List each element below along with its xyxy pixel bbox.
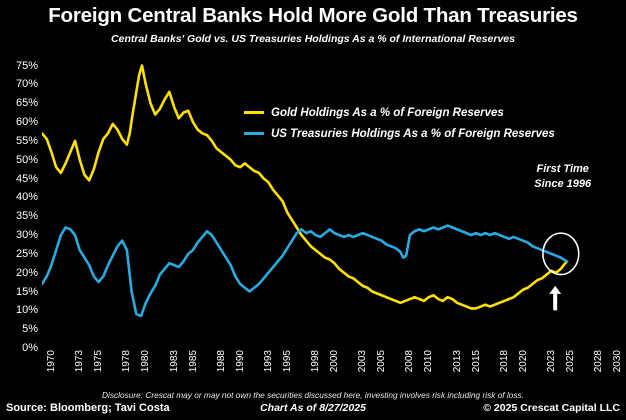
y-tick-label: 55% (16, 135, 38, 147)
x-tick-label: 1973 (74, 350, 85, 372)
y-tick-label: 60% (16, 116, 38, 128)
x-tick-label: 1998 (310, 350, 321, 372)
y-axis-labels: 75%70%65%60%55%50%45%40%35%30%25%20%15%1… (0, 58, 38, 348)
x-tick-label: 1980 (140, 350, 151, 372)
annotation-arrow (549, 286, 561, 310)
y-tick-label: 65% (16, 97, 38, 109)
x-tick-label: 1970 (46, 350, 57, 372)
chart-subtitle: Central Banks' Gold vs. US Treasuries Ho… (0, 33, 626, 45)
footer: Source: Bloomberg; Tavi Costa Chart As o… (0, 402, 626, 420)
y-tick-label: 15% (16, 286, 38, 298)
y-tick-label: 20% (16, 267, 38, 279)
copyright-label: © 2025 Crescat Capital LLC (483, 402, 620, 414)
y-tick-label: 70% (16, 78, 38, 90)
annotation-text: First Time (523, 162, 603, 176)
x-tick-label: 2030 (612, 350, 623, 372)
x-tick-label: 2000 (329, 350, 340, 372)
y-tick-label: 50% (16, 154, 38, 166)
x-tick-label: 1983 (169, 350, 180, 372)
y-tick-label: 75% (16, 60, 38, 72)
y-tick-label: 5% (22, 323, 38, 335)
series-canvas (42, 58, 608, 348)
x-tick-label: 2005 (376, 350, 387, 372)
x-tick-label: 1978 (121, 350, 132, 372)
x-tick-label: 2025 (565, 350, 576, 372)
x-tick-label: 2015 (471, 350, 482, 372)
page-title: Foreign Central Banks Hold More Gold Tha… (0, 4, 626, 28)
x-tick-label: 2023 (546, 350, 557, 372)
y-tick-label: 45% (16, 173, 38, 185)
x-tick-label: 1985 (188, 350, 199, 372)
x-tick-label: 1975 (93, 350, 104, 372)
x-tick-label: 2008 (404, 350, 415, 372)
x-tick-label: 2010 (423, 350, 434, 372)
x-tick-label: 2013 (452, 350, 463, 372)
x-tick-label: 2003 (357, 350, 368, 372)
annotation-text: Since 1996 (523, 177, 603, 191)
series-line-gold (42, 66, 567, 309)
x-tick-label: 2020 (518, 350, 529, 372)
y-tick-label: 0% (22, 342, 38, 354)
y-tick-label: 10% (16, 304, 38, 316)
y-tick-label: 35% (16, 210, 38, 222)
plot-area (42, 58, 608, 348)
y-tick-label: 40% (16, 191, 38, 203)
chart-root: Foreign Central Banks Hold More Gold Tha… (0, 0, 626, 420)
disclosure-text: Disclosure: Crescat may or may not own t… (0, 390, 626, 400)
x-tick-label: 1990 (235, 350, 246, 372)
y-tick-label: 30% (16, 229, 38, 241)
x-tick-label: 1995 (282, 350, 293, 372)
x-tick-label: 2018 (499, 350, 510, 372)
x-axis-labels: 1970197319751978198019831985198819901993… (42, 350, 608, 392)
x-tick-label: 1988 (216, 350, 227, 372)
x-tick-label: 2028 (593, 350, 604, 372)
x-tick-label: 1993 (263, 350, 274, 372)
y-tick-label: 25% (16, 248, 38, 260)
